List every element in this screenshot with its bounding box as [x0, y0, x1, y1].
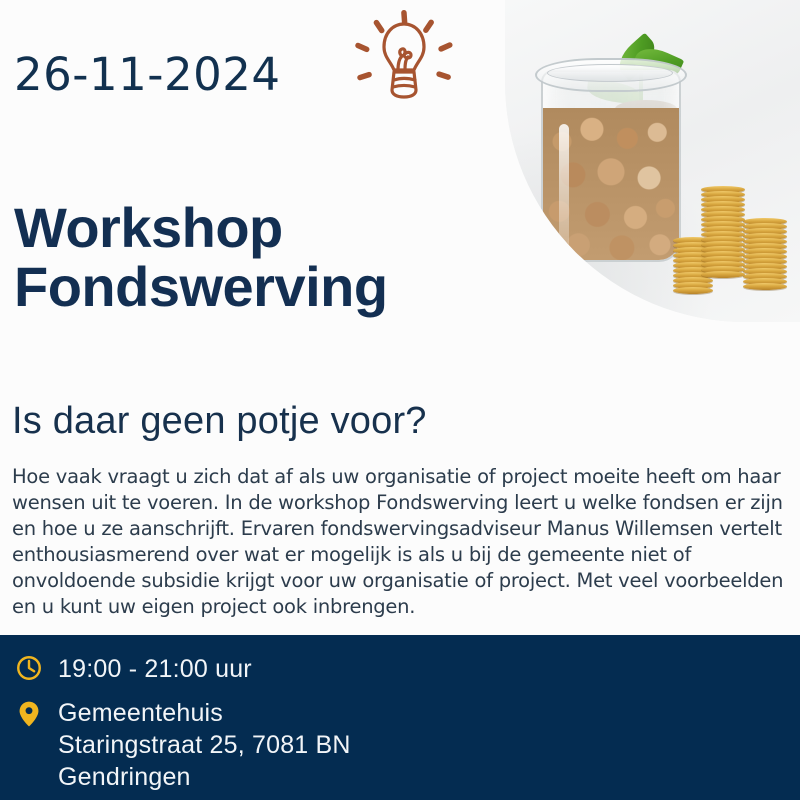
- venue-name: Gemeentehuis: [58, 697, 351, 729]
- event-date: 26-11-2024: [14, 48, 281, 101]
- jar-body-graphic: [541, 70, 681, 262]
- poster-body-text: Hoe vaak vraagt u zich dat af als uw org…: [12, 464, 788, 621]
- event-time-text: 19:00 - 21:00 uur: [58, 653, 252, 685]
- poster-subtitle: Is daar geen potje voor?: [12, 400, 427, 443]
- glass-jar-graphic: [535, 42, 683, 258]
- jar-highlight-graphic: [559, 124, 569, 262]
- hero-image-panel: [505, 0, 800, 322]
- event-time-row: 19:00 - 21:00 uur: [14, 653, 252, 685]
- coin-graphic: [673, 287, 713, 294]
- clock-icon: [14, 653, 44, 683]
- coin-stack-graphic: [743, 218, 787, 290]
- coin-graphic: [743, 283, 787, 290]
- event-details-footer: 19:00 - 21:00 uur Gemeentehuis Staringst…: [0, 635, 800, 800]
- loose-coin-graphic: [549, 282, 566, 296]
- coin-stack-graphic: [701, 186, 745, 278]
- event-poster: 26-11-2024 Workshop Fondswerving Is daar…: [0, 0, 800, 800]
- venue-address: Staringstraat 25, 7081 BN Gendringen: [58, 729, 351, 793]
- event-location-row: Gemeentehuis Staringstraat 25, 7081 BN G…: [14, 697, 351, 793]
- page-title: Workshop Fondswerving: [14, 198, 388, 317]
- jar-rim-graphic: [547, 64, 673, 82]
- lightbulb-doodle-icon: [348, 10, 460, 120]
- map-pin-icon: [14, 699, 44, 729]
- coin-graphic: [701, 271, 745, 278]
- coin-jar-photo: [505, 0, 800, 322]
